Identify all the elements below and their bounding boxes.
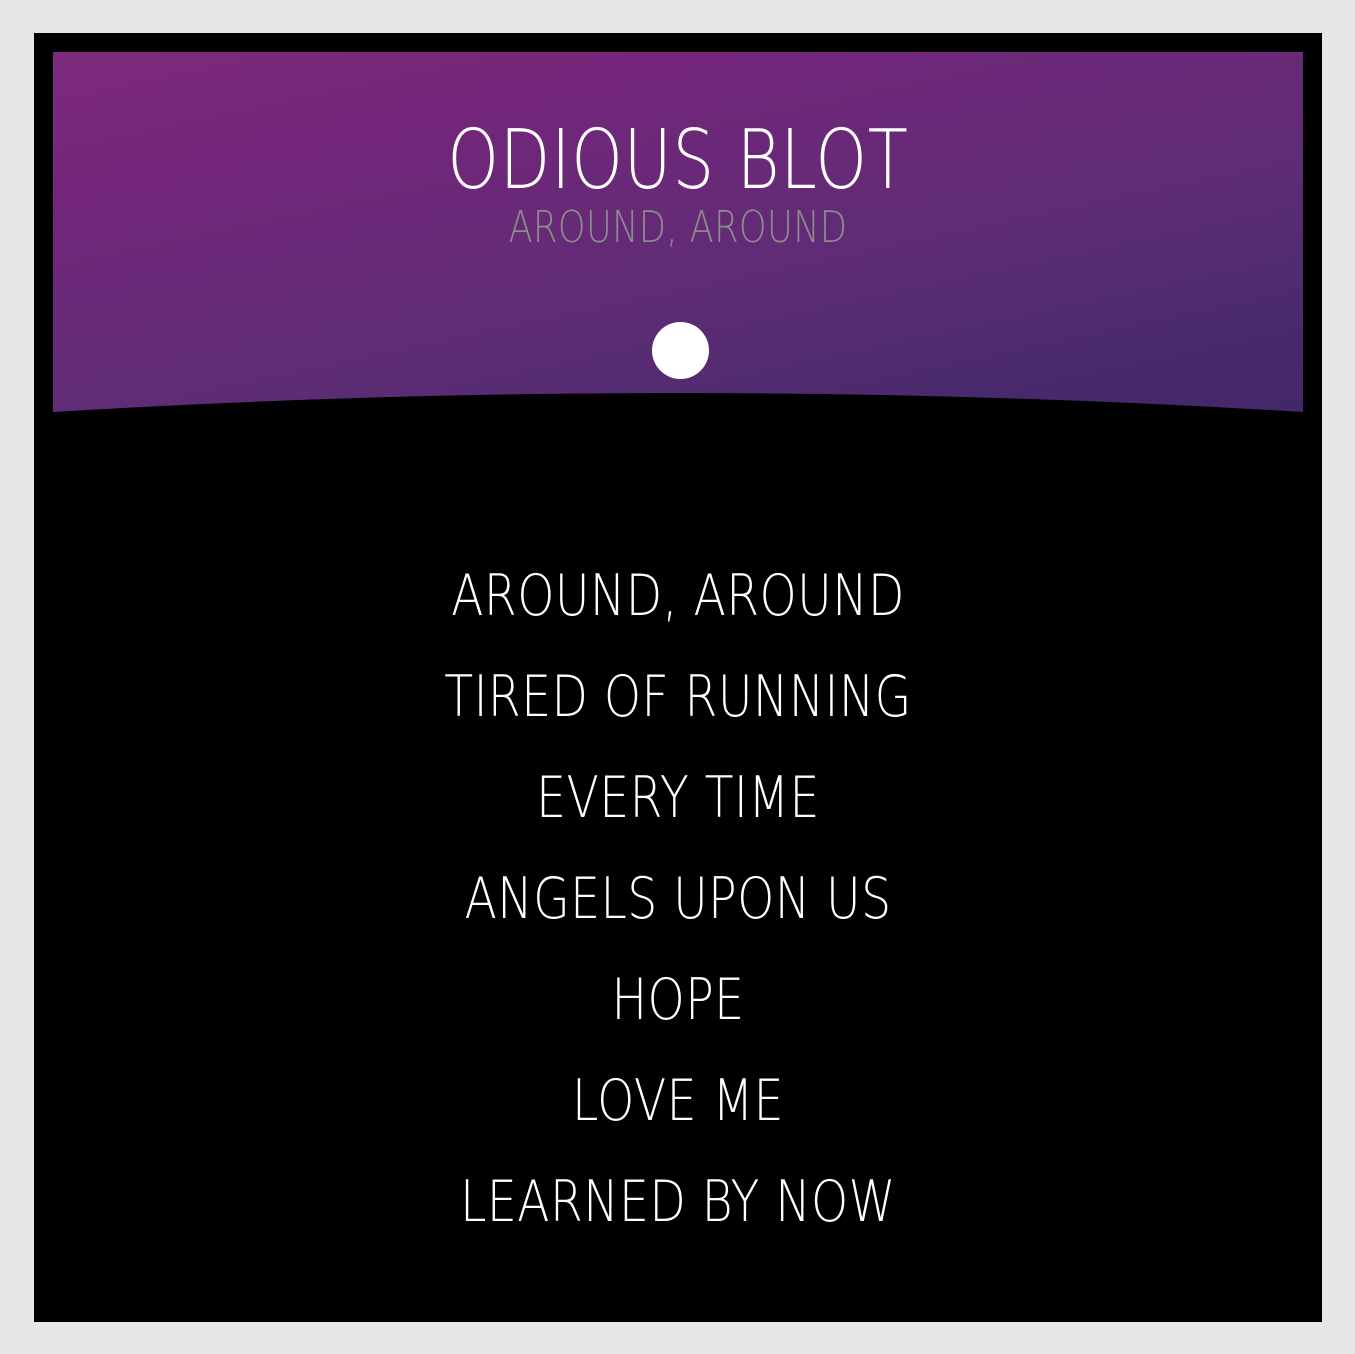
header-accent-dot-icon <box>652 322 709 379</box>
album-lyric-card: ODIOUS BLOT AROUND, AROUND AROUND, AROUN… <box>34 33 1322 1322</box>
list-item: LEARNED BY NOW <box>143 1152 1212 1253</box>
list-item: LOVE ME <box>143 1051 1212 1152</box>
lyrics-list: AROUND, AROUND TIRED OF RUNNING EVERY TI… <box>34 546 1322 1253</box>
album-subtitle: AROUND, AROUND <box>178 200 1178 250</box>
list-item: AROUND, AROUND <box>143 546 1212 647</box>
list-item: TIRED OF RUNNING <box>143 647 1212 748</box>
list-item: ANGELS UPON US <box>143 849 1212 950</box>
list-item: HOPE <box>143 950 1212 1051</box>
page-title: ODIOUS BLOT <box>178 52 1178 200</box>
list-item: EVERY TIME <box>143 748 1212 849</box>
album-header-panel: ODIOUS BLOT AROUND, AROUND <box>53 52 1303 458</box>
album-title-block: ODIOUS BLOT AROUND, AROUND <box>53 52 1303 250</box>
